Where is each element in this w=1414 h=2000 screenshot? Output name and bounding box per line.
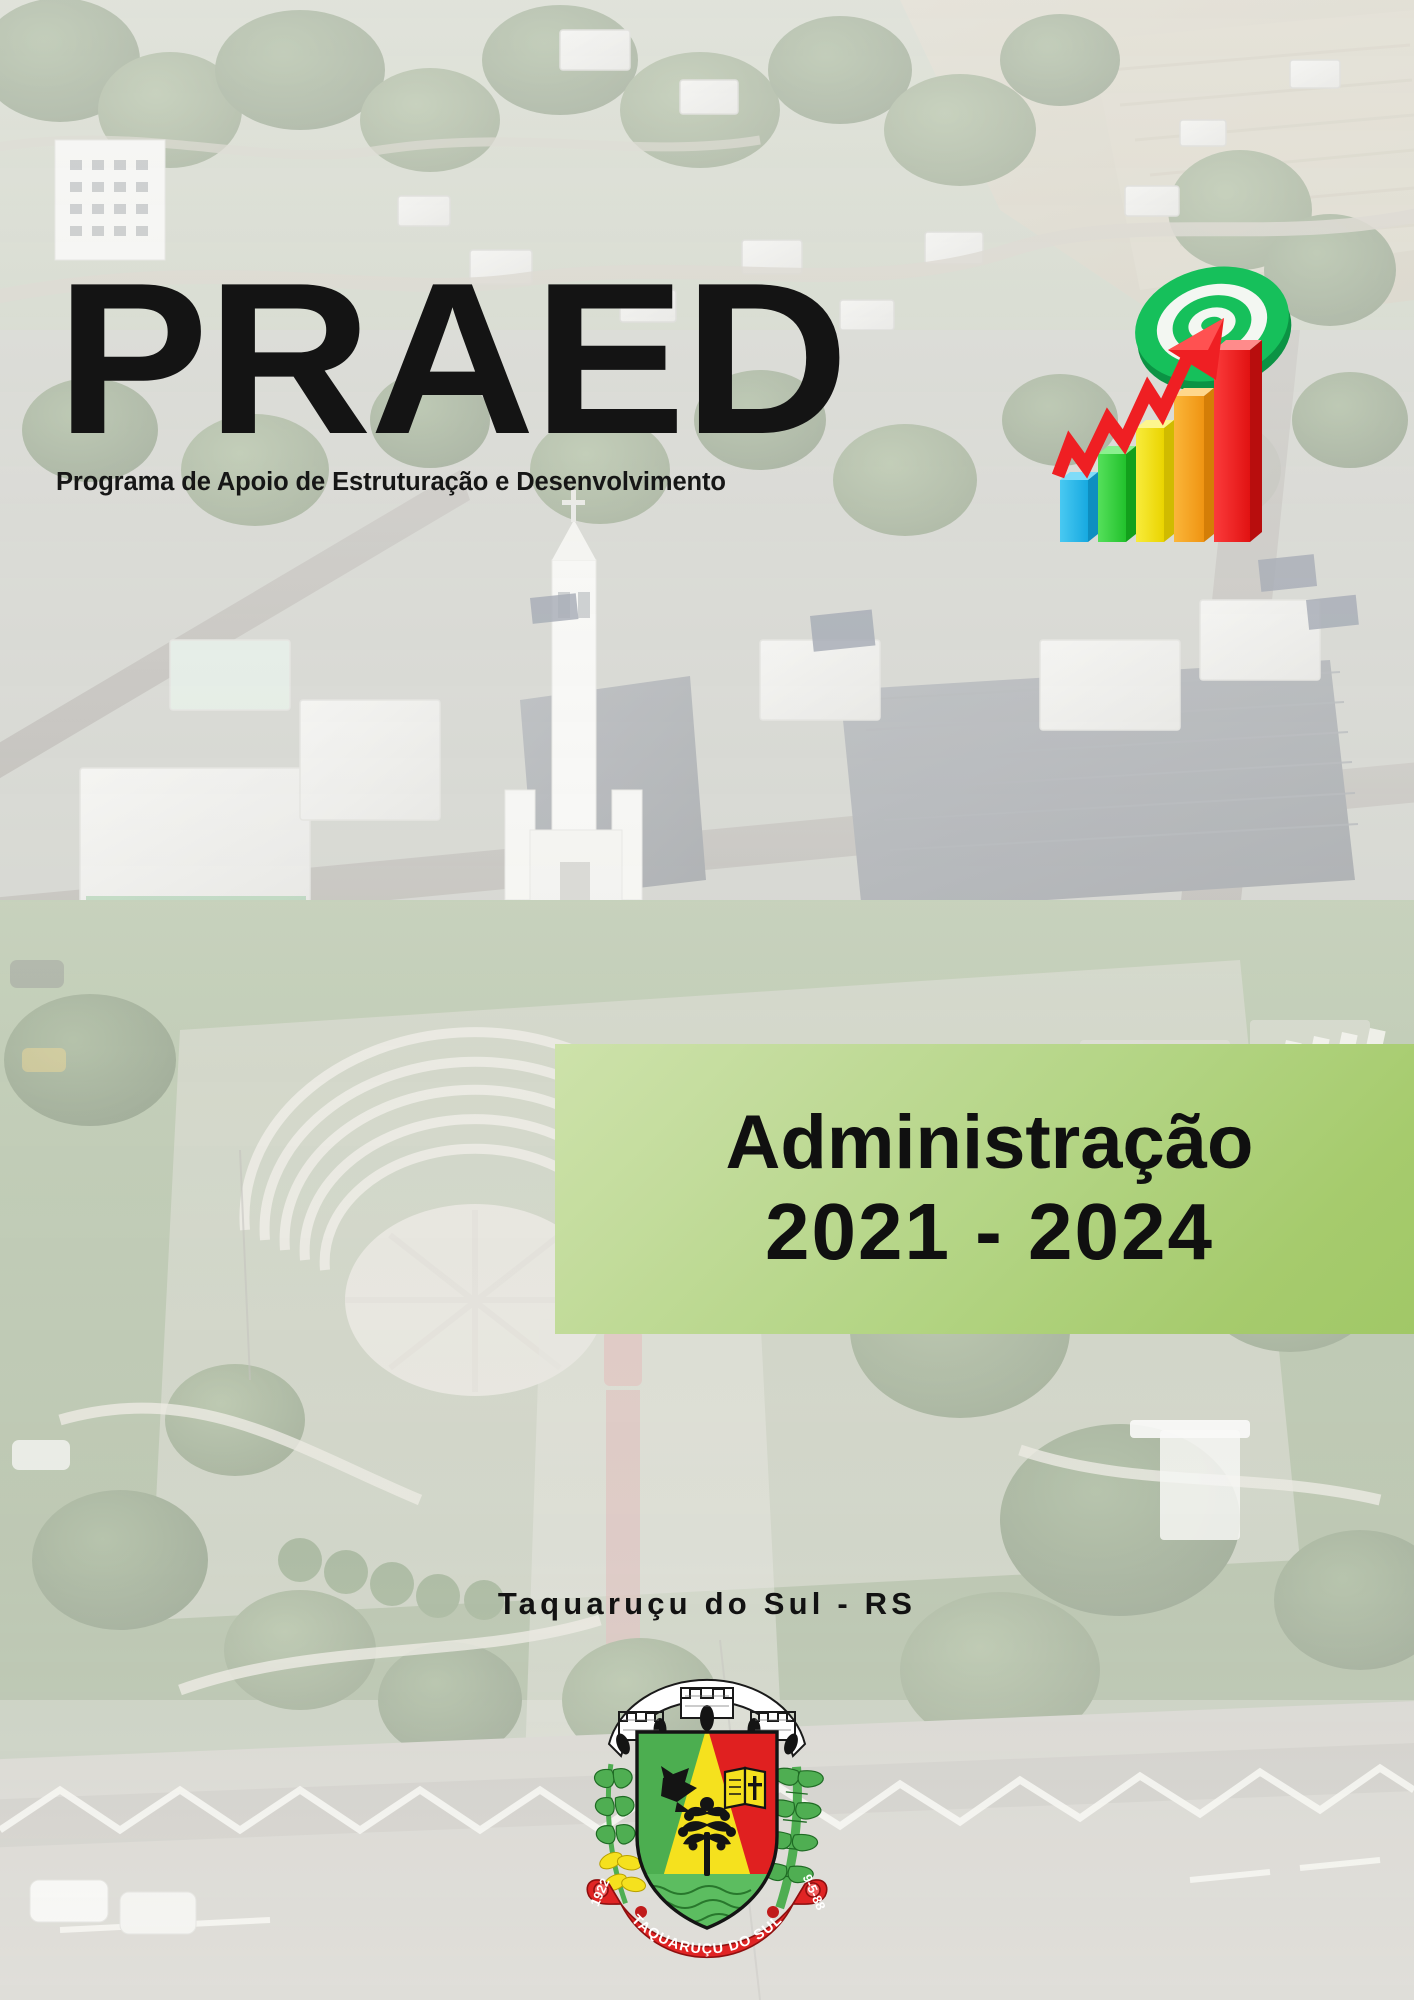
growth-chart-logo	[1012, 232, 1332, 552]
administration-label: Administração	[726, 1103, 1254, 1184]
coat-of-arms: TAQUARUÇU DO SUL 1922 9-5-88	[557, 1636, 857, 1966]
shield	[627, 1726, 789, 1936]
administration-banner: Administração 2021 - 2024	[555, 1044, 1414, 1334]
cover-page: PRAED Programa de Apoio de Estruturação …	[0, 0, 1414, 2000]
open-book-icon	[725, 1768, 765, 1808]
city-name: Taquaruçu do Sul - RS	[0, 1586, 1414, 1622]
coat-of-arms-wrapper: TAQUARUÇU DO SUL 1922 9-5-88	[0, 1636, 1414, 1966]
administration-years: 2021 - 2024	[765, 1190, 1214, 1275]
